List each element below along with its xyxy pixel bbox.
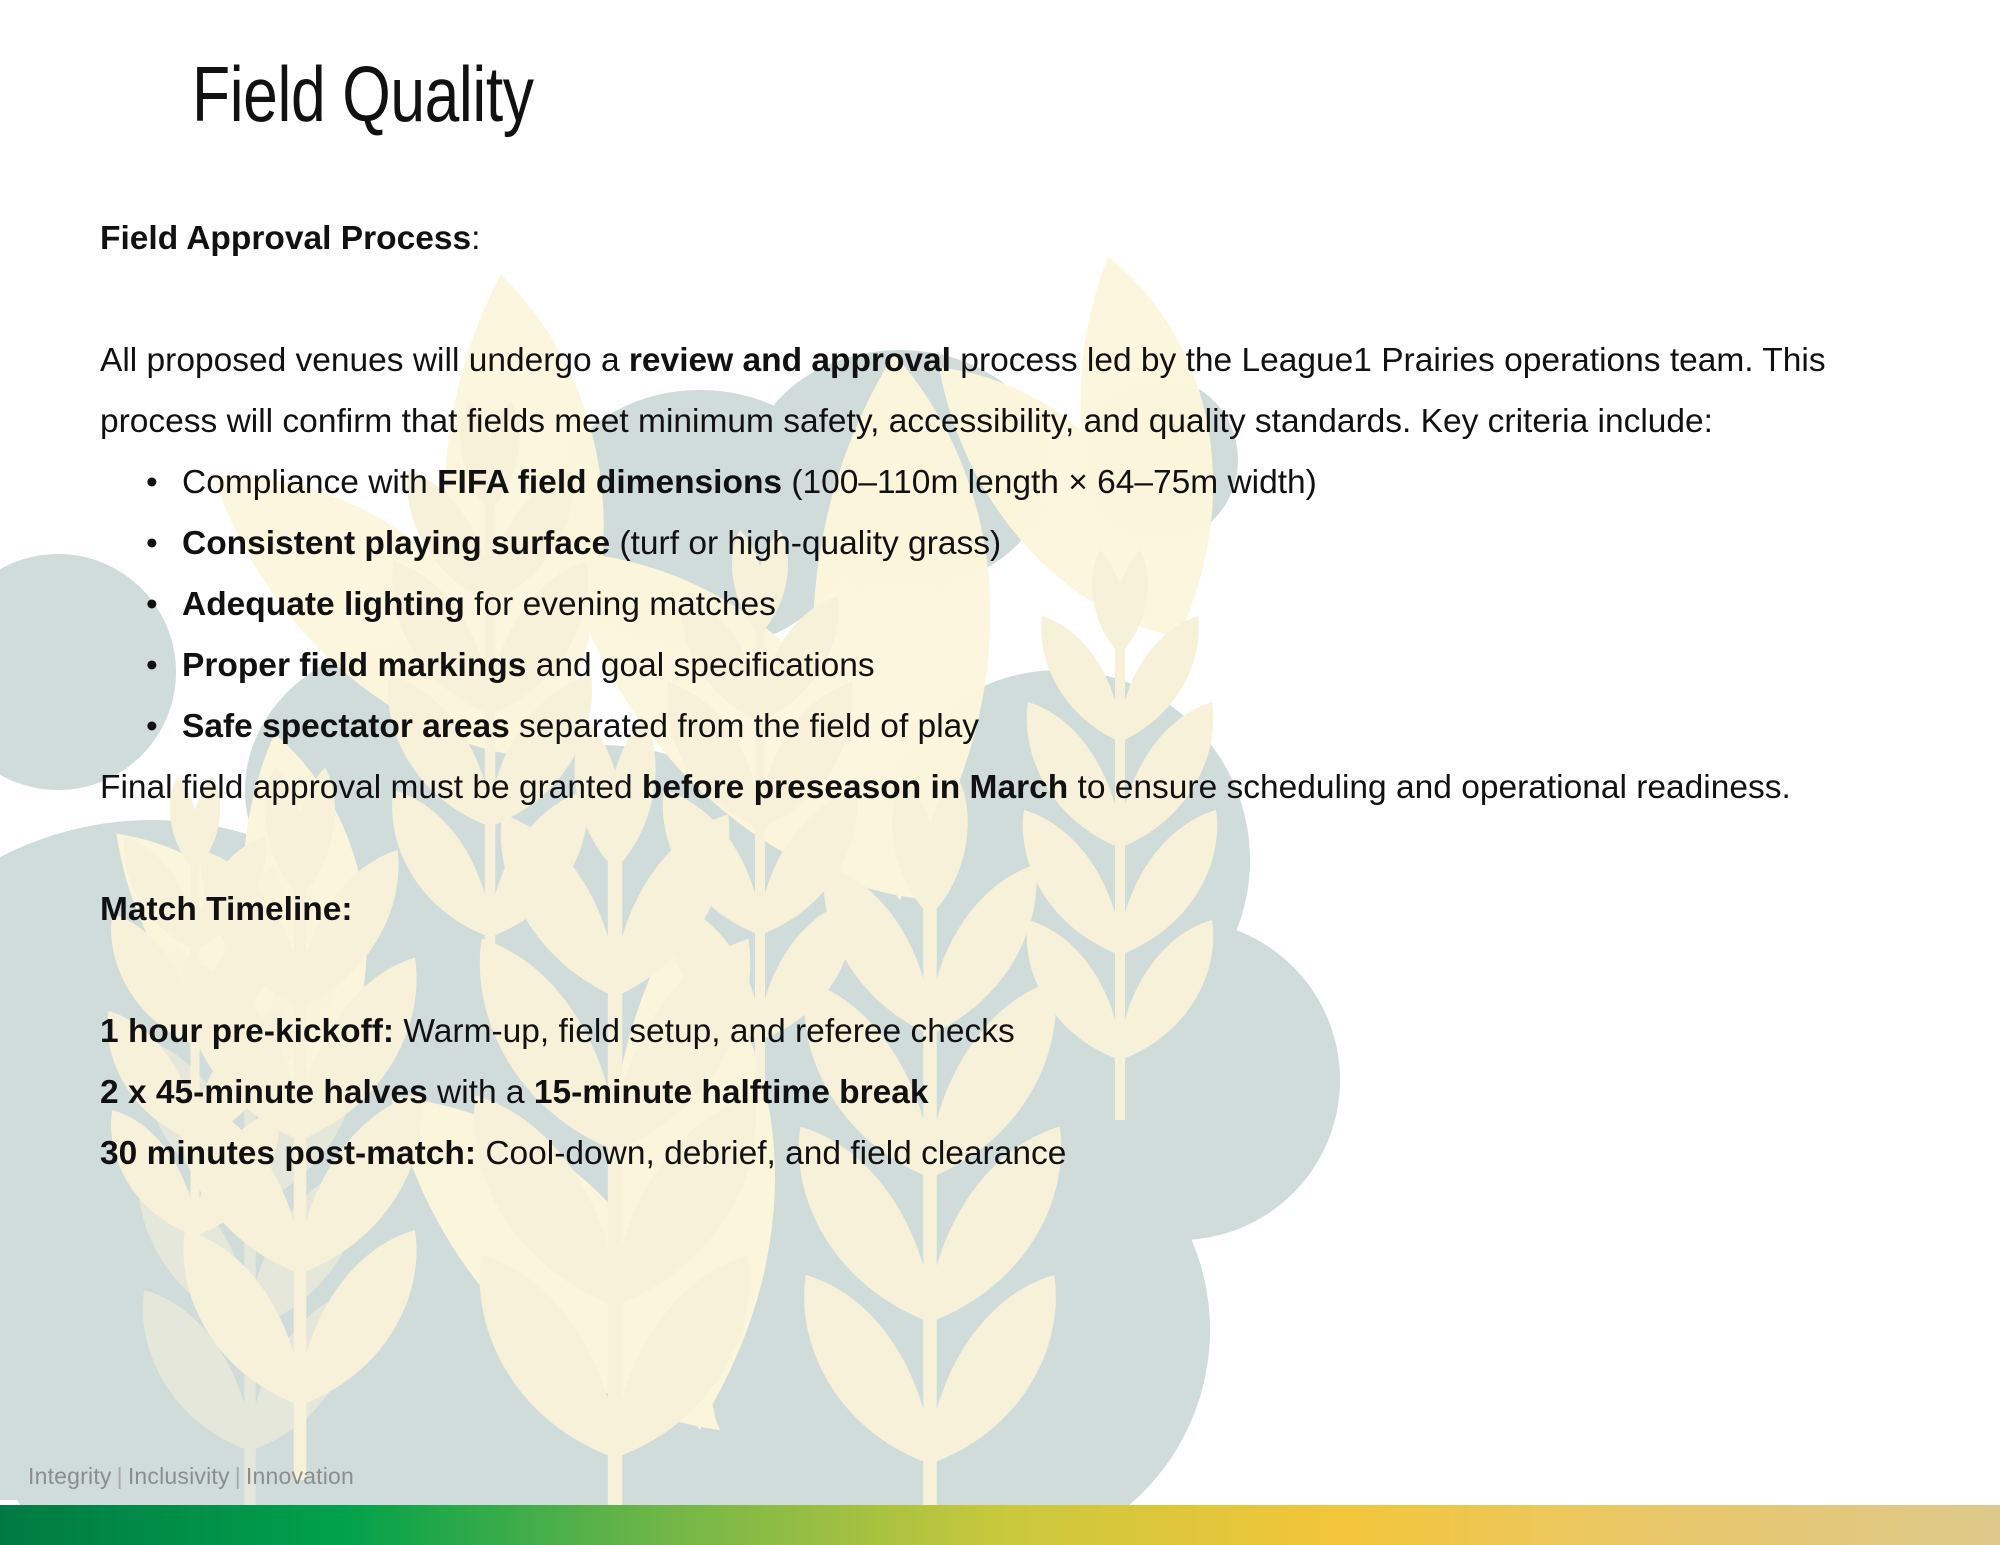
timeline-bold2-1: 15-minute halftime break xyxy=(534,1074,929,1111)
criteria-bold-4: Safe spectator areas xyxy=(182,708,510,745)
criteria-list: Compliance with FIFA field dimensions (1… xyxy=(100,452,1900,757)
timeline-text-0: Warm-up, field setup, and referee checks xyxy=(394,1013,1015,1050)
body-content: Field Approval Process: All proposed ven… xyxy=(100,208,1900,1184)
criteria-tail-4: separated from the field of play xyxy=(510,708,979,745)
match-timeline-heading: Match Timeline: xyxy=(100,879,1900,940)
criteria-bold-0: FIFA field dimensions xyxy=(437,464,782,501)
final-lead-text: Final field approval must be granted xyxy=(100,769,642,806)
timeline-text-1: with a xyxy=(428,1074,534,1111)
list-item: Consistent playing surface (turf or high… xyxy=(182,513,1900,574)
list-item: Adequate lighting for evening matches xyxy=(182,574,1900,635)
footer-tagline: Integrity|Inclusivity|Innovation xyxy=(28,1463,354,1490)
footer-value-integrity: Integrity xyxy=(28,1463,112,1489)
approval-process-heading-colon: : xyxy=(471,220,480,257)
intro-lead-text: All proposed venues will undergo a xyxy=(100,342,629,379)
intro-paragraph: All proposed venues will undergo a revie… xyxy=(100,330,1900,452)
timeline-bold-0: 1 hour pre-kickoff: xyxy=(100,1013,394,1050)
list-item: Compliance with FIFA field dimensions (1… xyxy=(182,452,1900,513)
final-approval-paragraph: Final field approval must be granted bef… xyxy=(100,757,1900,818)
list-item: Proper field markings and goal specifica… xyxy=(182,635,1900,696)
match-timeline-heading-text: Match Timeline: xyxy=(100,891,353,928)
timeline-bold-2: 30 minutes post-match: xyxy=(100,1135,476,1172)
slide-content: Field Quality Field Approval Process: Al… xyxy=(0,0,2000,1545)
criteria-lead-0: Compliance with xyxy=(182,464,437,501)
spacer-after-timeline-heading xyxy=(100,940,1900,1001)
timeline-bold-1: 2 x 45-minute halves xyxy=(100,1074,428,1111)
approval-process-heading: Field Approval Process: xyxy=(100,208,1900,269)
slide-canvas: Field Quality Field Approval Process: Al… xyxy=(0,0,2000,1545)
timeline-text-2: Cool-down, debrief, and field clearance xyxy=(476,1135,1066,1172)
criteria-bold-2: Adequate lighting xyxy=(182,586,465,623)
footer-separator-2: | xyxy=(230,1463,246,1489)
final-tail-text: to ensure scheduling and operational rea… xyxy=(1068,769,1791,806)
footer-value-innovation: Innovation xyxy=(246,1463,354,1489)
criteria-bold-3: Proper field markings xyxy=(182,647,526,684)
final-bold-text: before preseason in March xyxy=(642,769,1068,806)
spacer-before-timeline xyxy=(100,818,1900,879)
bottom-accent-bar xyxy=(0,1505,2000,1545)
list-item: Safe spectator areas separated from the … xyxy=(182,696,1900,757)
criteria-tail-1: (turf or high-quality grass) xyxy=(610,525,1001,562)
timeline-row-2: 30 minutes post-match: Cool-down, debrie… xyxy=(100,1123,1900,1184)
page-title: Field Quality xyxy=(192,52,534,138)
intro-bold-text: review and approval xyxy=(629,342,951,379)
spacer-after-approval-heading xyxy=(100,269,1900,330)
criteria-tail-3: and goal specifications xyxy=(526,647,874,684)
criteria-tail-2: for evening matches xyxy=(465,586,776,623)
timeline-row-0: 1 hour pre-kickoff: Warm-up, field setup… xyxy=(100,1001,1900,1062)
approval-process-heading-text: Field Approval Process xyxy=(100,220,471,257)
footer-value-inclusivity: Inclusivity xyxy=(128,1463,230,1489)
criteria-bold-1: Consistent playing surface xyxy=(182,525,610,562)
timeline-row-1: 2 x 45-minute halves with a 15-minute ha… xyxy=(100,1062,1900,1123)
footer-separator-1: | xyxy=(112,1463,128,1489)
criteria-tail-0: (100–110m length × 64–75m width) xyxy=(782,464,1317,501)
